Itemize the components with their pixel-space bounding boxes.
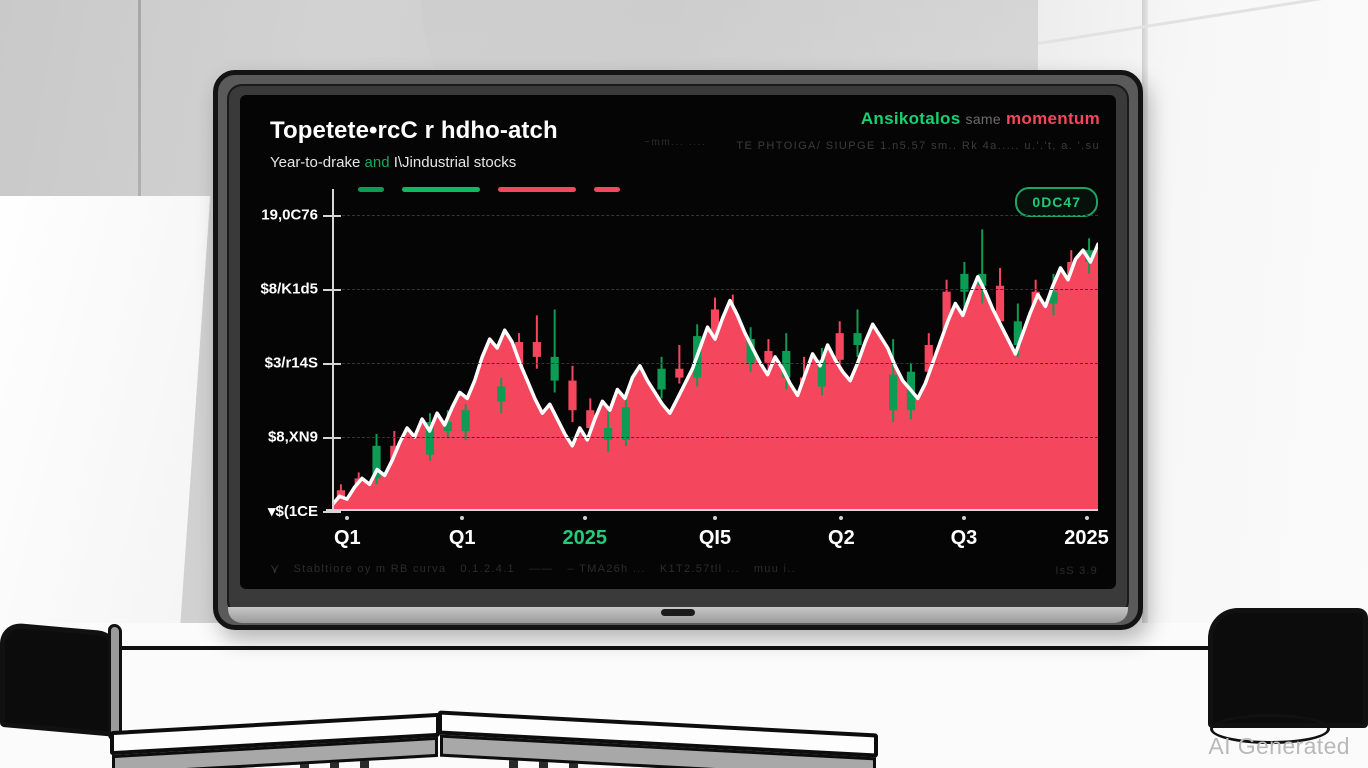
subtitle-part-2: I\Jindustrial stocks [394,154,517,171]
y-axis-tick [323,437,341,439]
footer-item: – TMA26h ... [568,563,646,575]
legend-swatch-red-long [498,187,576,192]
candlestick-body[interactable] [675,369,683,378]
status-label-green: Ansikotalos [861,109,961,128]
status-label-red: momentum [1006,109,1100,128]
header-meta-text: TE PHTOIGA/ SIUPGE 1.n5.57 sm.. Rk 4a...… [736,140,1100,152]
y-axis-label: $8,XN9 [268,428,318,445]
footer-item: —— [529,563,554,575]
footer-item: muu i.. [754,563,796,575]
candlestick-body[interactable] [853,333,861,345]
candlestick-body[interactable] [568,381,576,411]
footer-item: K1T2.57tll ... [660,563,740,575]
y-axis-tick [323,289,341,291]
x-axis-tick [713,516,717,520]
x-axis-label: Q3 [951,527,978,550]
candlestick-body[interactable] [871,345,879,375]
wall-mounted-display: Topetete•rcC r hdho-atch Year-to-drake a… [213,70,1143,630]
x-axis [326,509,1098,511]
x-axis-tick [345,516,349,520]
candlestick-body[interactable] [497,387,505,402]
candlestick-body[interactable] [604,428,612,440]
x-axis-tick [962,516,966,520]
chart-gridline [332,289,1098,290]
legend-swatch-green-long [402,187,480,192]
candlestick-body[interactable] [657,369,665,390]
x-axis-label: QI5 [699,527,731,550]
chart-gridline [332,215,1098,216]
candlestick-body[interactable] [764,351,772,363]
chart-plot-area[interactable]: 19,0C76$8/K1d5$3/r14S$8,XN9▾$(1CEQ1Q1202… [332,199,1098,511]
screen: Topetete•rcC r hdho-atch Year-to-drake a… [240,95,1116,589]
x-axis-label: 2025 [1064,527,1109,550]
y-axis-tick [323,363,341,365]
x-axis-tick [460,516,464,520]
x-axis-label: Q1 [334,527,361,550]
candlestick-body[interactable] [479,401,487,410]
legend-swatch-red-short [594,187,620,192]
x-axis-tick [1085,516,1089,520]
footer-item: 0.1.2.4.1 [460,563,515,575]
status-label-gray: same [966,111,1001,127]
y-axis-label: $8/K1d5 [260,280,318,297]
candlestick-body[interactable] [462,410,470,431]
footer-item: Stabltiore oy m RB curva [294,563,447,575]
legend-swatch-green-short [358,187,384,192]
chart-legend[interactable] [358,187,620,192]
x-axis-tick [583,516,587,520]
header-status-line: Ansikotalos same momentum [736,109,1100,129]
dashboard-footer: ⋎ Stabltiore oy m RB curva0.1.2.4.1——– T… [270,561,1096,577]
y-axis [332,189,334,511]
x-axis-label: Q1 [449,527,476,550]
subtitle-ghost-text: ~mm... .... [644,137,706,148]
subtitle-part-1: Year-to-drake [270,154,360,171]
candlestick-body[interactable] [551,357,559,381]
checkmark-icon: ⋎ [270,561,280,577]
x-axis-tick [839,516,843,520]
page-subtitle: Year-to-drake and I\Jindustrial stocks [270,154,1096,171]
subtitle-accent: and [365,154,390,171]
y-axis-tick [323,215,341,217]
table-left [0,648,460,768]
candlestick-body[interactable] [622,407,630,440]
y-axis-label: ▾$(1CE [268,502,318,520]
candlestick-body[interactable] [533,342,541,357]
display-indicator-notch [661,609,695,616]
y-axis-label: $3/r14S [265,354,318,371]
chart-svg [332,199,1098,511]
y-axis-label: 19,0C76 [261,206,318,223]
candlestick-body[interactable] [408,455,416,464]
footer-right-text: IsS 3.9 [1055,565,1098,577]
y-axis-tick [323,511,341,513]
chart-gridline [332,437,1098,438]
x-axis-label: Q2 [828,527,855,550]
x-axis-label: 2025 [563,527,608,550]
chart-gridline [332,363,1098,364]
ai-generated-watermark: AI Generated [1208,733,1350,760]
header-status-group: Ansikotalos same momentum TE PHTOIGA/ SI… [736,109,1100,152]
candlestick-body[interactable] [836,333,844,360]
candlestick-body[interactable] [640,389,648,407]
candlestick-body[interactable] [889,375,897,411]
